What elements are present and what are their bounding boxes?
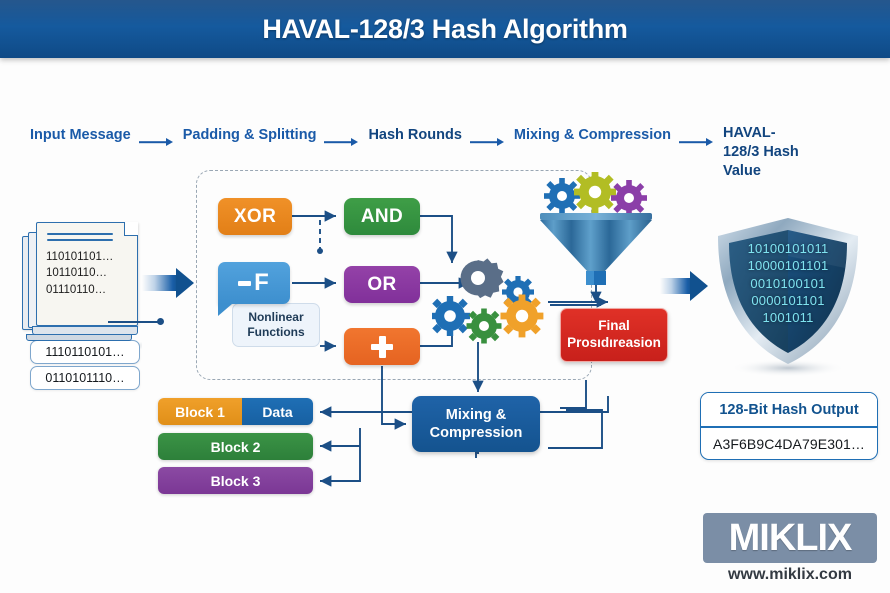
document-header-rule: [47, 239, 113, 241]
block-1-data-label: Data: [242, 398, 313, 425]
document-binary-line-3: 01110110…: [46, 282, 138, 298]
operation-or[interactable]: OR: [344, 266, 420, 303]
arrow-right-icon: [470, 132, 506, 152]
page-title: HAVAL-128/3 Hash Algorithm: [0, 0, 890, 58]
gear-cluster-icon: [432, 258, 552, 354]
final-processing-line1: Final: [567, 318, 661, 335]
arrow-shaft: [142, 275, 178, 291]
document-connector-line: [108, 318, 164, 326]
nonlinear-label-line1: Nonlinear: [247, 310, 304, 325]
process-flow-breadcrumb: Input Message Padding & Splitting Hash R…: [30, 124, 860, 170]
input-chip-2: 0110101110…: [30, 366, 140, 390]
arrow-shaft: [660, 278, 692, 294]
flow-step-padding-splitting: Padding & Splitting: [183, 124, 317, 144]
flow-step-haval-hash-value: HAVAL- 128/3 Hash Value: [723, 124, 831, 181]
arrow-right-icon: [679, 132, 715, 152]
operation-xor[interactable]: XOR: [218, 198, 292, 235]
mixing-line2: Compression: [430, 424, 523, 442]
funnel-gear-olive: [574, 172, 616, 213]
document-base-lower: [26, 334, 132, 341]
connector-line: [108, 321, 160, 323]
nonlinear-label-line2: Functions: [247, 325, 304, 340]
document-page-front: 110101101… 10110110… 01110110…: [36, 222, 138, 326]
block-bar-1[interactable]: Block 1 Data: [158, 398, 313, 425]
flow-final-line1: HAVAL-: [723, 124, 831, 143]
operation-add[interactable]: [344, 328, 420, 365]
document-base-upper: [32, 326, 138, 335]
block-bar-2[interactable]: Block 2: [158, 433, 313, 460]
funnel-rim: [540, 213, 652, 220]
document-binary-text: 110101101… 10110110… 01110110…: [46, 249, 138, 298]
arrow-input-to-rounds-icon: [142, 268, 196, 298]
block-1-label: Block 1: [158, 398, 242, 425]
page-header: HAVAL-128/3 Hash Algorithm: [0, 0, 890, 58]
funnel-gear-purple: [611, 180, 647, 216]
funnel-gear-blue: [544, 178, 580, 214]
final-processing-line2: Prosıdıreasion: [567, 335, 661, 352]
document-header-rule: [47, 233, 113, 235]
flow-final-line2: 128/3 Hash Value: [723, 143, 831, 181]
watermark-logo: MIKLIX: [703, 513, 877, 563]
flow-step-input-message: Input Message: [30, 124, 131, 144]
arrow-head: [176, 268, 194, 298]
watermark-brand: MIKLIX: [729, 517, 852, 560]
hash-value-shield: 10100101011 10000101101 0010100101 00001…: [706, 212, 870, 382]
final-processing-box[interactable]: Final Prosıdıreasion: [560, 308, 668, 362]
input-chip-1: 1110110101…: [30, 340, 140, 364]
arrow-right-icon: [139, 132, 175, 152]
plus-icon: [371, 336, 393, 358]
watermark-url: www.miklix.com: [703, 566, 877, 584]
document-folded-corner-icon: [124, 222, 138, 236]
mixing-line1: Mixing &: [430, 406, 523, 424]
document-binary-line-1: 110101101…: [46, 249, 138, 265]
flow-step-mixing-compression: Mixing & Compression: [514, 124, 671, 144]
nonlinear-functions-callout: Nonlinear Functions: [232, 303, 320, 347]
mixing-compression-box[interactable]: Mixing & Compression: [412, 396, 540, 452]
hash-output-value: A3F6B9C4DA79E301…: [701, 427, 877, 460]
minus-icon: [238, 281, 251, 286]
funnel-cone: [540, 220, 652, 271]
bubble-tail: [218, 304, 232, 316]
operation-and[interactable]: AND: [344, 198, 420, 235]
arrow-right-icon: [324, 132, 360, 152]
operation-nonlinear-function[interactable]: F: [218, 262, 290, 304]
nonlinear-symbol: F: [254, 269, 270, 297]
hash-output-title: 128-Bit Hash Output: [701, 393, 877, 426]
block-bar-3[interactable]: Block 3: [158, 467, 313, 494]
connector-endpoint-dot: [157, 318, 164, 325]
flow-step-hash-rounds: Hash Rounds: [368, 124, 461, 144]
diagram-canvas: HAVAL-128/3 Hash Algorithm Input Message…: [0, 0, 890, 593]
arrow-rounds-to-shield-icon: [660, 271, 710, 301]
funnel-with-gears-icon: [536, 172, 656, 302]
hash-output-card: 128-Bit Hash Output A3F6B9C4DA79E301…: [700, 392, 878, 460]
document-binary-line-2: 10110110…: [46, 265, 138, 281]
